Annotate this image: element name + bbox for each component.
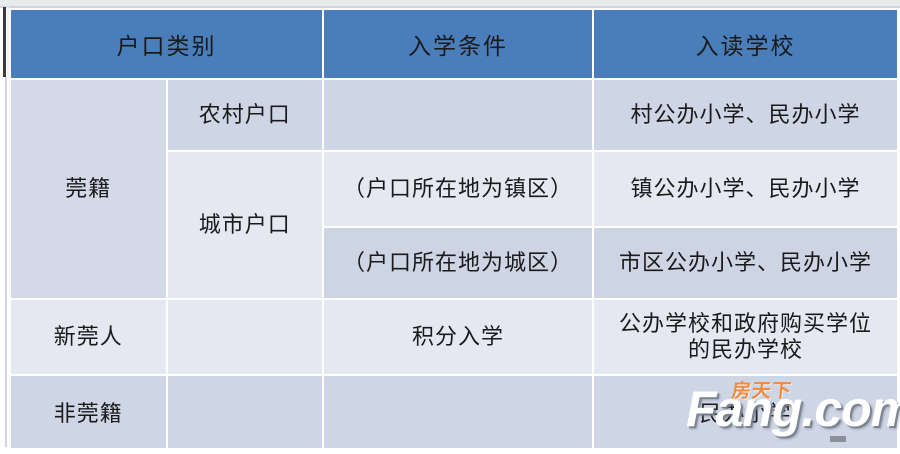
condition-cell-rural	[323, 79, 593, 151]
condition-cell-town: （户口所在地为镇区）	[323, 151, 593, 227]
bottom-background-band	[0, 448, 900, 454]
condition-cell-non-guanji	[323, 375, 593, 453]
left-border-rule-light	[7, 7, 9, 77]
school-cell-town: 镇公办小学、民办小学	[593, 151, 898, 227]
header-household-category: 户口类别	[10, 9, 323, 79]
table-body: 莞籍 农村户口 村公办小学、民办小学 城市户口 （户口所在地为镇区） 镇公办小学…	[10, 79, 898, 453]
left-border-rule-dark	[3, 7, 6, 77]
subtype-cell-non-guanji	[167, 375, 324, 453]
school-cell-non-guanji: 民办小学	[593, 375, 898, 453]
school-new-resident-line-2: 的民办学校	[594, 337, 897, 363]
header-school-attended: 入读学校	[593, 9, 898, 79]
header-row: 户口类别 入学条件 入读学校	[10, 9, 898, 79]
table-row-non-guanji: 非莞籍 民办小学	[10, 375, 898, 453]
table-row-rural-household: 莞籍 农村户口 村公办小学、民办小学	[10, 79, 898, 151]
subtype-cell-urban: 城市户口	[167, 151, 324, 299]
category-cell-new-resident: 新莞人	[10, 299, 167, 375]
table-row-new-resident: 新莞人 积分入学 公办学校和政府购买学位 的民办学校	[10, 299, 898, 375]
screenshot-root: 户口类别 入学条件 入读学校 莞籍 农村户口 村公办小学、民办小学 城市户口 （…	[0, 0, 900, 454]
header-enrollment-condition: 入学条件	[323, 9, 593, 79]
school-cell-new-resident: 公办学校和政府购买学位 的民办学校	[593, 299, 898, 375]
left-border-rule-body	[5, 77, 7, 447]
school-cell-city: 市区公办小学、民办小学	[593, 227, 898, 299]
subtype-cell-new-resident	[167, 299, 324, 375]
enrollment-policy-table: 户口类别 入学条件 入读学校 莞籍 农村户口 村公办小学、民办小学 城市户口 （…	[9, 8, 899, 454]
table-header: 户口类别 入学条件 入读学校	[10, 9, 898, 79]
subtype-cell-rural: 农村户口	[167, 79, 324, 151]
condition-cell-new-resident: 积分入学	[323, 299, 593, 375]
category-cell-guanji: 莞籍	[10, 79, 167, 299]
category-cell-non-guanji: 非莞籍	[10, 375, 167, 453]
school-new-resident-line-1: 公办学校和政府购买学位	[594, 311, 897, 337]
school-cell-rural: 村公办小学、民办小学	[593, 79, 898, 151]
condition-cell-city: （户口所在地为城区）	[323, 227, 593, 299]
